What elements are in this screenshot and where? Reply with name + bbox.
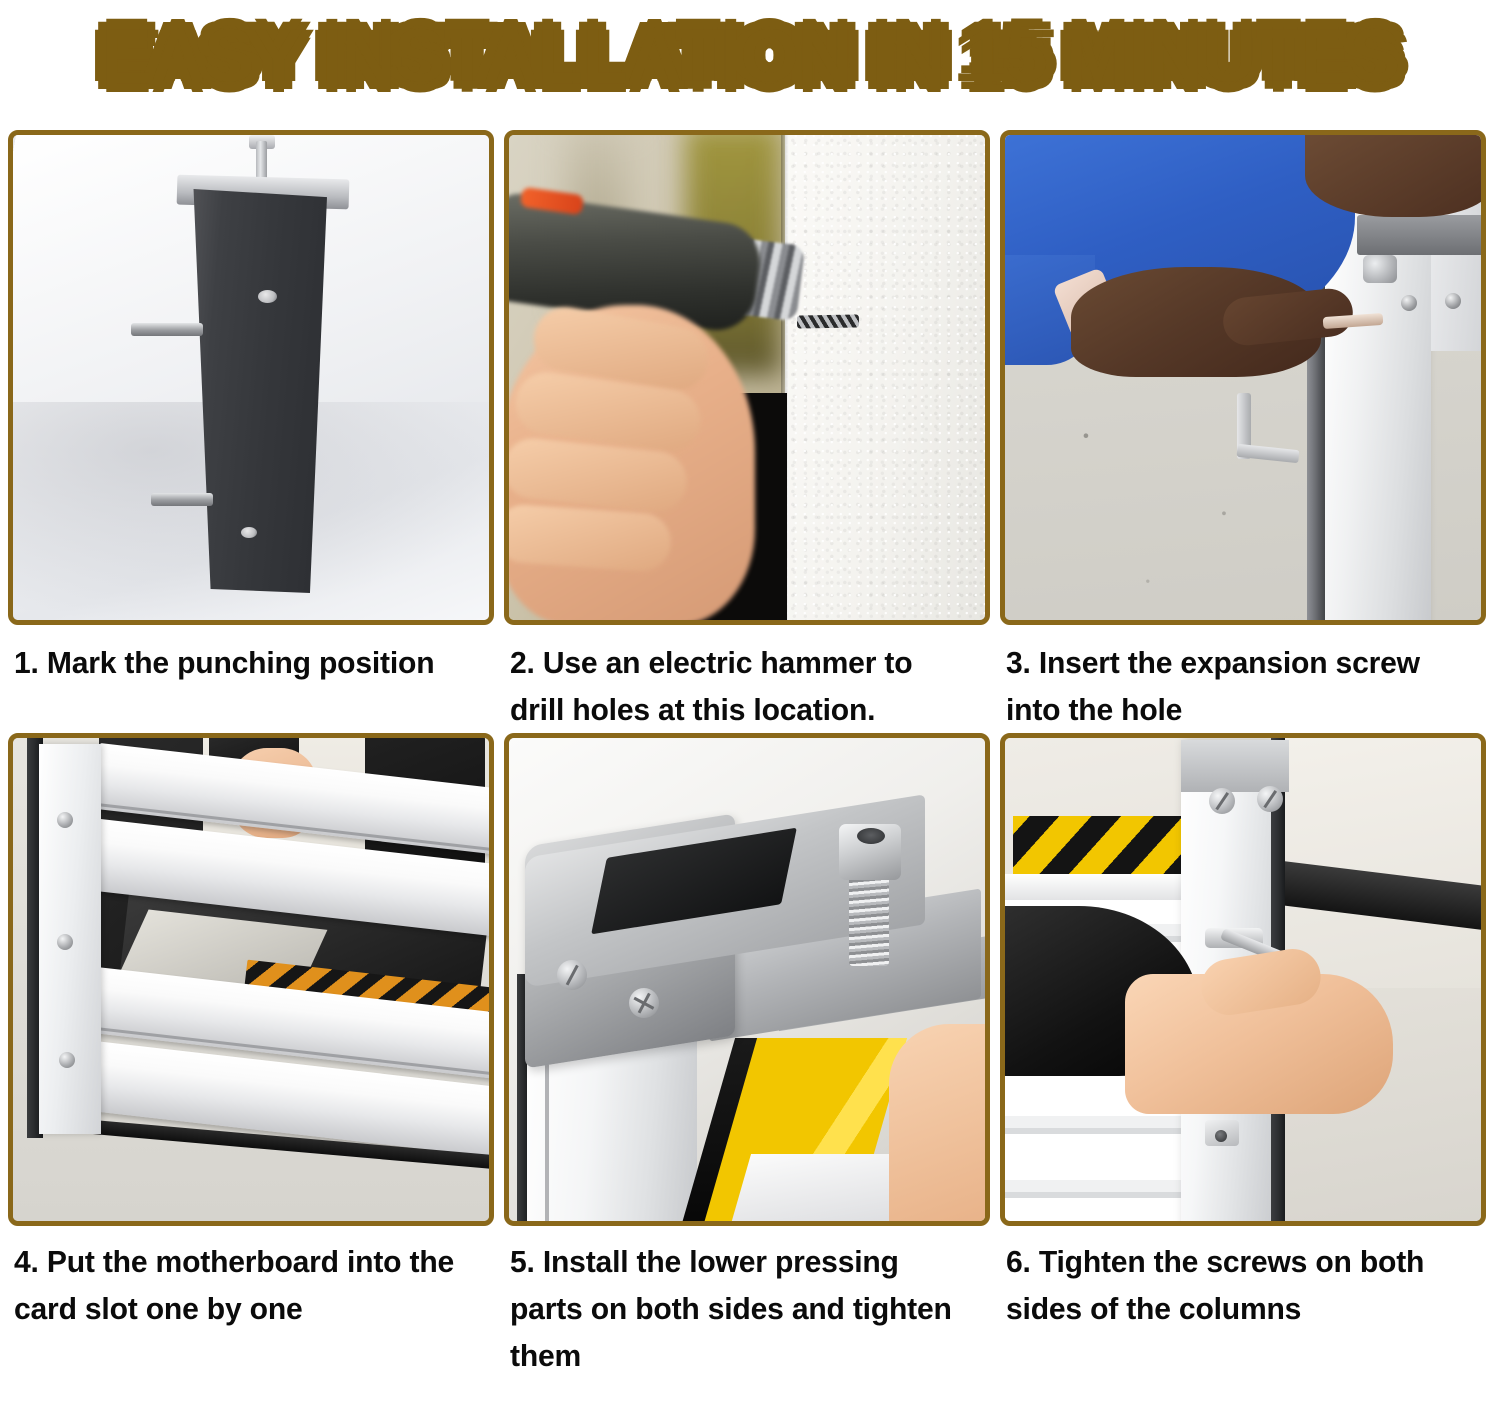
step-4-caption: 4. Put the motherboard into the card slo… (14, 1238, 470, 1332)
step-5-photo (509, 738, 985, 1221)
step-1-photo-frame (8, 130, 494, 625)
step-4: 4. Put the motherboard into the card slo… (8, 733, 500, 1379)
step-2-photo (509, 135, 985, 620)
step-4-photo (13, 738, 489, 1221)
step-3-caption: 3. Insert the expansion screw into the h… (1006, 639, 1462, 733)
steps-grid: 1. Mark the punching position (8, 130, 1492, 1379)
step-1-caption: 1. Mark the punching position (14, 639, 470, 686)
step-2-caption: 2. Use an electric hammer to drill holes… (510, 639, 966, 733)
step-6-caption: 6. Tighten the screws on both sides of t… (1006, 1238, 1462, 1332)
step-6-photo-frame (1000, 733, 1486, 1226)
step-6: 6. Tighten the screws on both sides of t… (1000, 733, 1492, 1379)
step-1-photo (13, 135, 489, 620)
step-5: 5. Install the lower pressing parts on b… (504, 733, 996, 1379)
page-title: EASY INSTALLATION IN 15 MINUTES (101, 16, 1399, 96)
step-4-photo-frame (8, 733, 494, 1226)
step-6-photo (1005, 738, 1481, 1221)
step-1: 1. Mark the punching position (8, 130, 500, 733)
step-5-photo-frame (504, 733, 990, 1226)
title-banner: EASY INSTALLATION IN 15 MINUTES (0, 0, 1500, 112)
step-3-photo (1005, 135, 1481, 620)
installation-guide-sheet: EASY INSTALLATION IN 15 MINUTES (0, 0, 1500, 1403)
step-3-photo-frame (1000, 130, 1486, 625)
step-3: 3. Insert the expansion screw into the h… (1000, 130, 1492, 733)
step-2-photo-frame (504, 130, 990, 625)
step-2: 2. Use an electric hammer to drill holes… (504, 130, 996, 733)
step-5-caption: 5. Install the lower pressing parts on b… (510, 1238, 966, 1379)
